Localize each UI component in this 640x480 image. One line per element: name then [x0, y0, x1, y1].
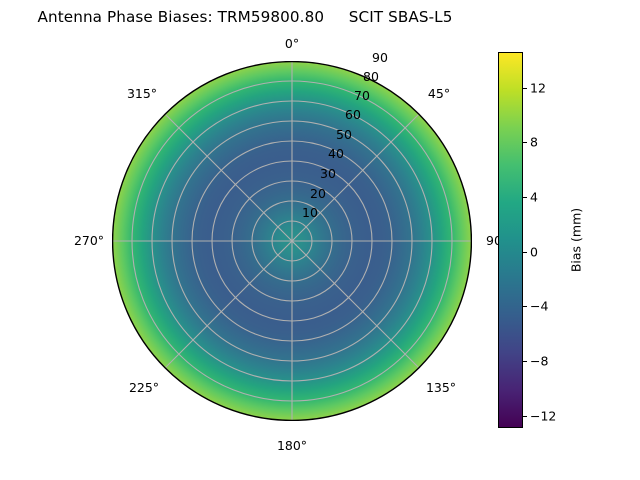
colorbar-ticklabel-12: 12	[530, 80, 546, 95]
colorbar-tick-m12	[523, 416, 527, 417]
theta-tick-135: 135°	[426, 382, 456, 395]
colorbar-ticklabel-0: 0	[530, 244, 538, 259]
colorbar-ticklabel-4: 4	[530, 190, 538, 205]
page-title: Antenna Phase Biases: TRM59800.80 SCIT S…	[0, 8, 490, 26]
r-tick-60: 60	[345, 109, 361, 122]
theta-tick-180: 180°	[277, 440, 307, 453]
r-tick-70: 70	[354, 90, 370, 103]
theta-tick-0: 0°	[285, 38, 299, 51]
colorbar-ticklabel-m4: −4	[530, 299, 548, 314]
theta-tick-315: 315°	[127, 88, 157, 101]
theta-tick-225: 225°	[129, 382, 159, 395]
colorbar-ticklabel-m12: −12	[530, 408, 556, 423]
angular-gridlines	[112, 61, 472, 421]
colorbar-tick-12	[523, 88, 527, 89]
colorbar-tick-0	[523, 252, 527, 253]
r-tick-30: 30	[320, 168, 336, 181]
polar-plot-svg	[112, 61, 472, 421]
r-tick-40: 40	[328, 148, 344, 161]
colorbar-tick-m4	[523, 306, 527, 307]
colorbar[interactable]: 12 8 4 0 −4 −8 −12 Bias (mm)	[498, 52, 523, 428]
colorbar-axis-label: Bias (mm)	[569, 208, 584, 272]
figure-canvas: Antenna Phase Biases: TRM59800.80 SCIT S…	[0, 0, 640, 480]
colorbar-ticklabel-m8: −8	[530, 354, 548, 369]
r-tick-50: 50	[336, 129, 352, 142]
r-tick-90: 90	[372, 52, 388, 65]
polar-axes[interactable]: 0° 45° 90 135° 180° 225° 270° 315° 10 20…	[112, 61, 472, 421]
r-tick-10: 10	[302, 207, 318, 220]
colorbar-ticklabel-8: 8	[530, 135, 538, 150]
colorbar-tick-8	[523, 142, 527, 143]
colorbar-tick-m8	[523, 361, 527, 362]
r-tick-80: 80	[363, 71, 379, 84]
theta-tick-45: 45°	[428, 88, 450, 101]
colorbar-gradient	[498, 52, 523, 428]
r-tick-20: 20	[310, 188, 326, 201]
theta-tick-270: 270°	[74, 235, 104, 248]
colorbar-tick-4	[523, 197, 527, 198]
